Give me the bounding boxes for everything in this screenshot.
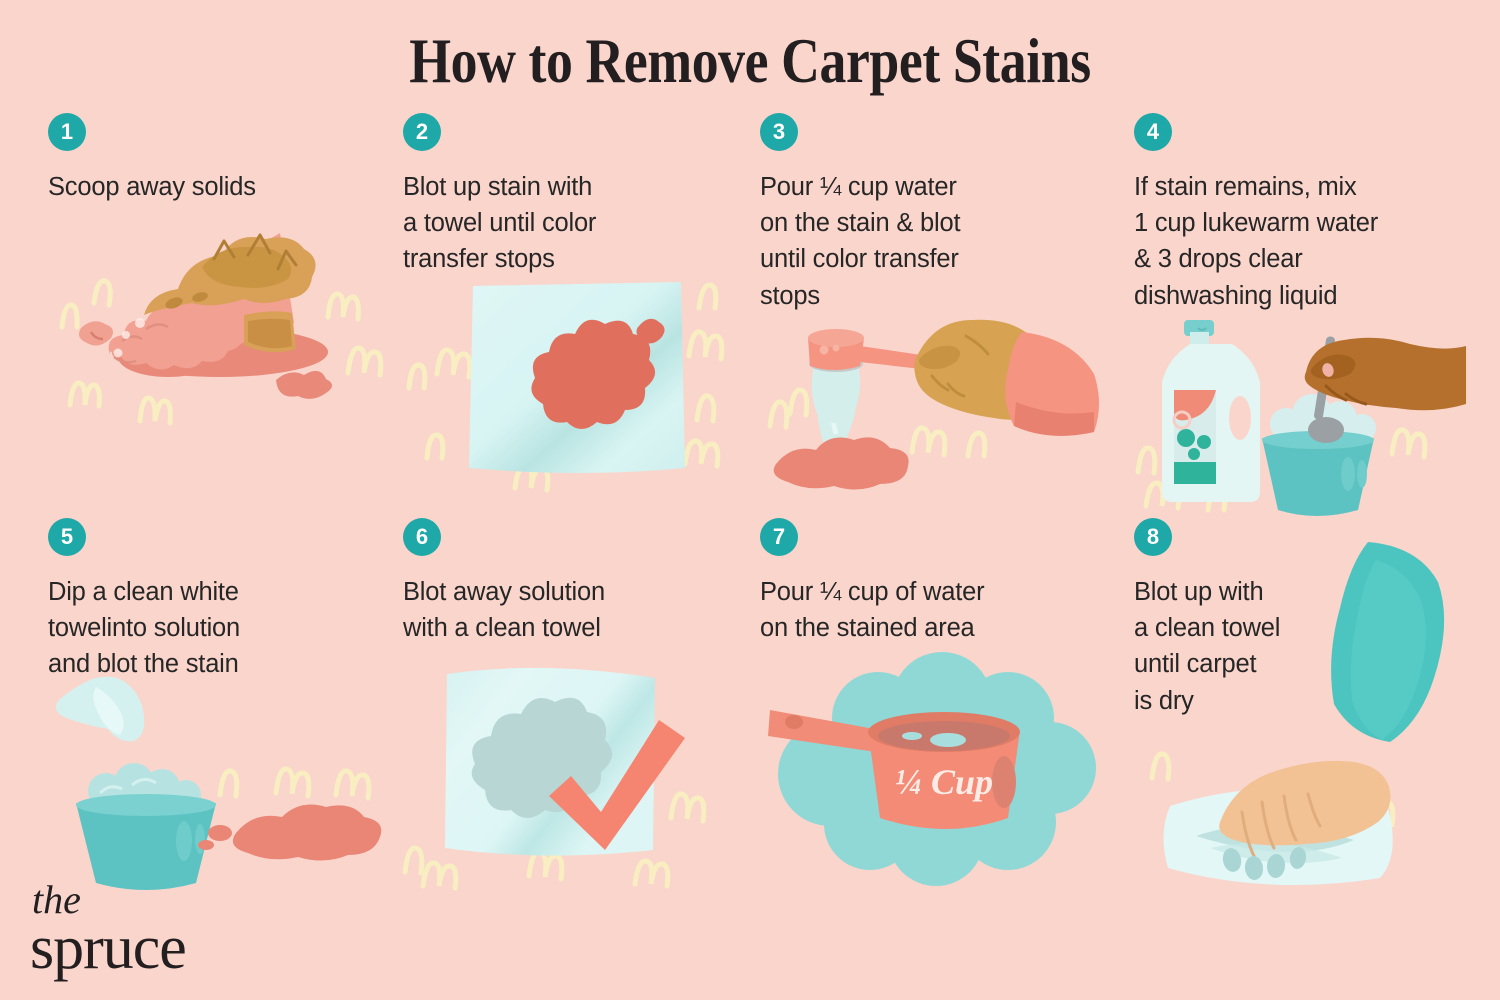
step-caption-1: Scoop away solids: [48, 169, 408, 205]
illustration-hand-pouring-cup: [760, 314, 1120, 524]
brand-line-2: spruce: [30, 919, 186, 978]
illustration-hand-blotting-towel: [1150, 560, 1500, 910]
step-badge-1: 1: [48, 113, 86, 151]
illustration-quarter-cup: ¼ Cup: [760, 646, 1120, 886]
step-2: 2 Blot up stain with a towel until color…: [403, 113, 763, 498]
step-caption-3: Pour ¼ cup water on the stain & blot unt…: [760, 169, 1120, 314]
step-caption-7: Pour ¼ cup of water on the stained area: [760, 574, 1120, 646]
page-title: How to Remove Carpet Stains: [120, 24, 1380, 98]
step-6: 6 Blot away solution with a clean towel: [403, 518, 763, 896]
floor-stain: [233, 804, 381, 860]
step-badge-2: 2: [403, 113, 441, 151]
brand-logo: the spruce: [30, 881, 186, 978]
illustration-towel-check: [403, 646, 763, 896]
step-badge-3: 3: [760, 113, 798, 151]
stain-droplet: [208, 825, 232, 841]
illustration-stained-towel: [403, 278, 763, 498]
step-caption-4: If stain remains, mix 1 cup lukewarm wat…: [1134, 169, 1494, 314]
step-1: 1 Scoop away solids: [48, 113, 408, 455]
step-badge-6: 6: [403, 518, 441, 556]
step-3: 3 Pour ¼ cup water on the stain & blot u…: [760, 113, 1120, 524]
step-caption-5: Dip a clean white towelinto solution and…: [48, 574, 408, 683]
step-badge-4: 4: [1134, 113, 1172, 151]
carpet-fiber-marks: [220, 768, 369, 797]
step-4: 4 If stain remains, mix 1 cup lukewarm w…: [1134, 113, 1494, 524]
step-caption-6: Blot away solution with a clean towel: [403, 574, 763, 646]
bowl: [76, 803, 216, 890]
illustration-pie-slice: [48, 205, 408, 455]
step-badge-7: 7: [760, 518, 798, 556]
step-5: 5 Dip a clean white towelinto solution a…: [48, 518, 408, 903]
step-caption-2: Blot up stain with a towel until color t…: [403, 169, 763, 278]
illustration-soap-and-bowl: [1134, 314, 1494, 524]
step-7: 7 Pour ¼ cup of water on the stained are…: [760, 518, 1120, 886]
cup-liquid: [812, 364, 860, 423]
infographic-canvas: How to Remove Carpet Stains 1 Scoop away…: [0, 0, 1500, 1000]
floor-stain: [774, 437, 909, 489]
dish-soap-bottle: [1162, 320, 1260, 502]
stain-splat-small: [276, 371, 332, 399]
step-badge-8: 8: [1134, 518, 1172, 556]
cup-label: ¼ Cup: [895, 762, 993, 802]
step-badge-5: 5: [48, 518, 86, 556]
illustration-towel-dip-bowl: [48, 683, 408, 903]
